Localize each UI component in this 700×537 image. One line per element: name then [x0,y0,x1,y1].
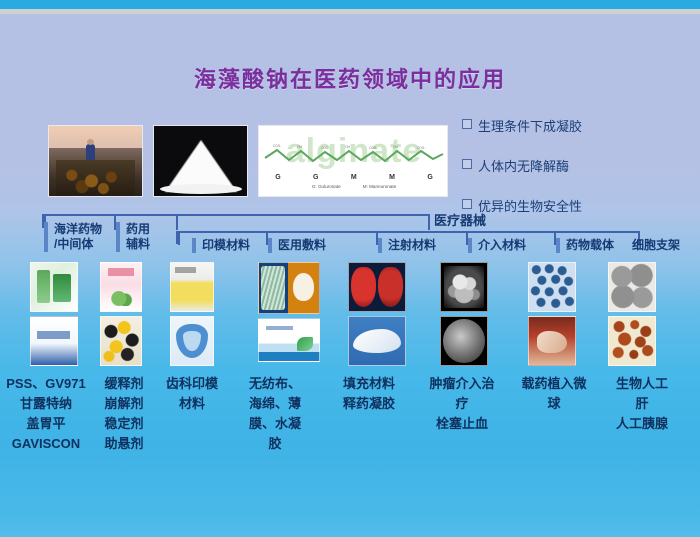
caption-row: PSS、GV971甘露特纳盖胃平GAVISCON 缓释剂崩解剂稳定剂助悬剂 齿科… [0,374,700,484]
category-label-drug-carrier: 药物载体 [556,238,634,253]
gm-unit: M [351,174,357,181]
category-label-impression: 印模材料 [192,238,270,253]
medical-image-ct-scan [440,262,488,312]
medical-photo-heart-tissue [348,262,406,312]
svg-text:COO-: COO- [273,144,281,148]
svg-text:COO-: COO- [321,146,329,150]
product-photo-oral-liquid [30,262,78,312]
image-column-drug-carrier [528,262,576,366]
window-top-bar [0,0,700,9]
product-image-grid [0,262,700,372]
product-photo-dental-tray [170,316,214,366]
bullet-text: 人体内无降解酶 [478,156,569,175]
legend-mannuronate: M: Mannuronate [363,184,396,189]
bullet-item-0: 生理条件下成凝胶 [462,116,698,135]
product-photo-dressing-box [258,318,320,362]
category-label-excipient: 药用辅料 [116,222,170,252]
svg-text:OH: OH [297,145,303,149]
caption-excipient: 缓释剂崩解剂稳定剂助悬剂 [92,374,156,454]
box-bullet-icon [462,159,472,169]
kelp-pile [56,160,134,197]
box-bullet-icon [462,119,472,129]
product-photo-capsules [100,316,142,366]
product-photo-powder-bag [170,262,214,312]
product-photo-blue-carton [30,316,78,366]
gm-unit-labels: G G M M G [259,174,448,181]
category-label-cell-scaffold: 细胞支架 [632,238,700,253]
image-column-excipient [100,262,142,366]
image-column-impression [170,262,214,366]
image-column-cell-scaffold [608,262,656,366]
svg-text:COO-: COO- [369,146,377,150]
presentation-slide: 海藻酸钠在医药领域中的应用 alginate COO-OH COO-OH COO… [0,0,700,537]
image-column-marine-drug [30,262,78,366]
legend-guluronate: G: Guluronate [312,184,341,189]
caption-drug-carrier: 载药植入微球 [512,374,596,414]
powder-base [160,184,242,194]
category-label-interventional: 介入材料 [468,238,546,253]
gm-unit: G [427,174,432,181]
gm-unit: G [313,174,318,181]
sky-region [49,126,142,148]
svg-text:COO-: COO- [417,146,425,150]
image-column-injection [348,262,406,366]
bullet-item-1: 人体内无降解酶 [462,156,698,175]
category-label-row: 海洋药物/中间体 药用辅料 印模材料 医用敷料 注射材料 介入材料 药物载体 细… [0,222,700,262]
caption-interventional: 肿瘤介入治疗栓塞止血 [420,374,504,434]
product-photo-injectable-gel [348,316,406,366]
page-title: 海藻酸钠在医药领域中的应用 [0,62,700,94]
worker-figure [86,144,95,160]
bullet-text: 生理条件下成凝胶 [478,116,582,135]
top-photo-row: alginate COO-OH COO-OH COO-OH COO- G G M… [48,125,448,197]
svg-text:OH: OH [393,145,399,149]
alginate-structure-diagram: alginate COO-OH COO-OH COO-OH COO- G G M… [258,125,448,197]
sodium-alginate-powder-photo [153,125,248,197]
product-photo-alginate-fiber [258,262,320,314]
gm-legend: G: Guluronate M: Mannuronate [259,184,448,189]
micrograph-islet-tissue [608,316,656,366]
category-label-marine-drug: 海洋药物/中间体 [44,222,116,252]
category-label-injection: 注射材料 [378,238,456,253]
caption-injection: 填充材料释药凝胶 [330,374,408,414]
micrograph-cell-clusters [608,262,656,312]
caption-marine-drug: PSS、GV971甘露特纳盖胃平GAVISCON [0,374,92,454]
medical-image-angiography [440,316,488,366]
gm-unit: M [389,174,395,181]
caption-dressing: 无纺布、海绵、薄膜、水凝胶 [240,374,310,454]
medical-photo-surgery [528,316,576,366]
image-column-dressing [258,262,320,362]
seaweed-harvest-photo [48,125,143,197]
svg-text:OH: OH [345,145,351,149]
product-photo-pink-carton [100,262,142,312]
micrograph-microspheres [528,262,576,312]
polymer-chain-svg: COO-OH COO-OH COO-OH COO- [263,140,445,172]
caption-impression: 齿科印模材料 [158,374,226,414]
gm-unit: G [275,174,280,181]
image-column-interventional [440,262,488,366]
category-label-dressing: 医用敷料 [268,238,346,253]
caption-cell-scaffold: 生物人工肝人工胰腺 [602,374,682,434]
